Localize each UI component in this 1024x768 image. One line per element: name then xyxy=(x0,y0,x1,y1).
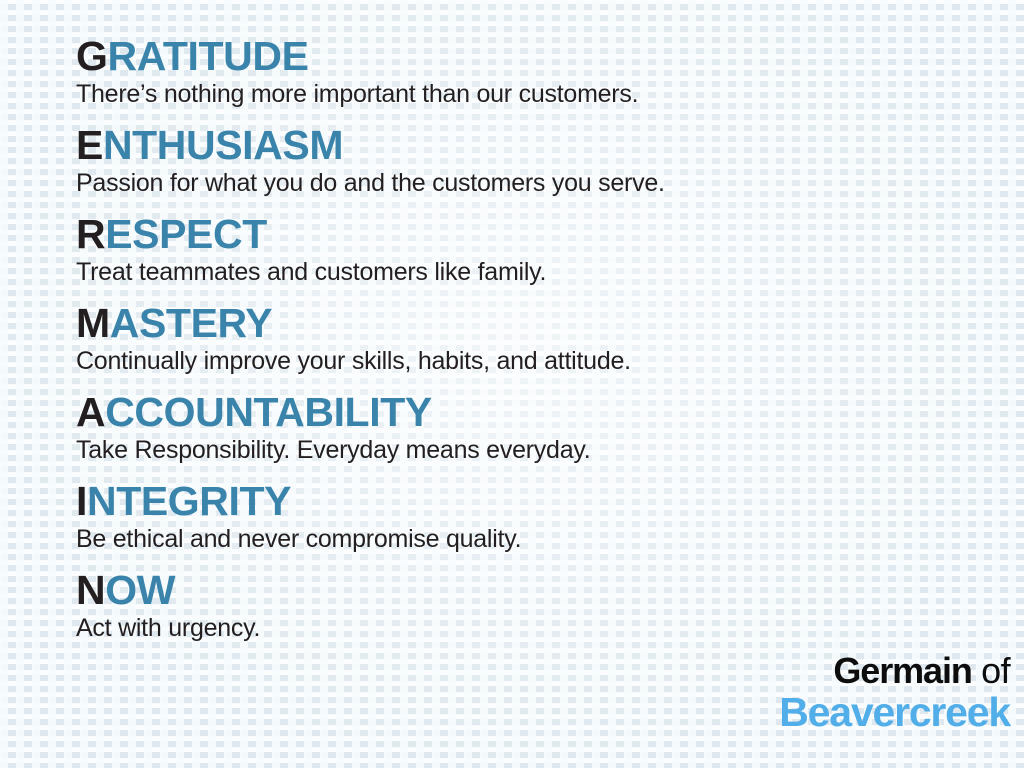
poster-canvas: GRATITUDE There’s nothing more important… xyxy=(0,0,1024,768)
value-heading-remainder: RATITUDE xyxy=(108,33,309,79)
value-description-enthusiasm: Passion for what you do and the customer… xyxy=(76,169,1006,198)
brand-name: Germain xyxy=(833,650,971,691)
value-initial-letter: N xyxy=(76,567,105,613)
value-description-now: Act with urgency. xyxy=(76,614,1006,643)
value-entry-mastery: MASTERY Continually improve your skills,… xyxy=(76,303,1006,376)
value-heading-remainder: NTEGRITY xyxy=(87,478,291,524)
core-values-list: GRATITUDE There’s nothing more important… xyxy=(76,36,1006,643)
value-description-gratitude: There’s nothing more important than our … xyxy=(76,80,1006,109)
value-initial-letter: R xyxy=(76,211,105,257)
value-description-accountability: Take Responsibility. Everyday means ever… xyxy=(76,436,1006,465)
value-heading-now: NOW xyxy=(76,570,1006,611)
value-initial-letter: A xyxy=(76,389,105,435)
value-description-integrity: Be ethical and never compromise quality. xyxy=(76,525,1006,554)
value-heading-accountability: ACCOUNTABILITY xyxy=(76,392,1006,433)
value-heading-respect: RESPECT xyxy=(76,214,1006,255)
value-entry-accountability: ACCOUNTABILITY Take Responsibility. Ever… xyxy=(76,392,1006,465)
value-heading-remainder: ASTERY xyxy=(110,300,272,346)
value-entry-respect: RESPECT Treat teammates and customers li… xyxy=(76,214,1006,287)
value-description-mastery: Continually improve your skills, habits,… xyxy=(76,347,1006,376)
brand-location: Beavercreek xyxy=(779,691,1010,734)
value-heading-mastery: MASTERY xyxy=(76,303,1006,344)
value-initial-letter: E xyxy=(76,122,103,168)
value-initial-letter: I xyxy=(76,478,87,524)
value-initial-letter: G xyxy=(76,33,108,79)
value-heading-remainder: OW xyxy=(105,567,175,613)
brand-logo: Germain of Beavercreek xyxy=(779,652,1010,734)
value-entry-gratitude: GRATITUDE There’s nothing more important… xyxy=(76,36,1006,109)
brand-logo-line-top: Germain of xyxy=(779,652,1010,690)
value-heading-gratitude: GRATITUDE xyxy=(76,36,1006,77)
value-entry-integrity: INTEGRITY Be ethical and never compromis… xyxy=(76,481,1006,554)
value-heading-integrity: INTEGRITY xyxy=(76,481,1006,522)
value-description-respect: Treat teammates and customers like famil… xyxy=(76,258,1006,287)
brand-connector-word: of xyxy=(981,650,1010,691)
value-heading-enthusiasm: ENTHUSIASM xyxy=(76,125,1006,166)
brand-connector xyxy=(972,650,981,691)
value-heading-remainder: CCOUNTABILITY xyxy=(105,389,432,435)
value-entry-enthusiasm: ENTHUSIASM Passion for what you do and t… xyxy=(76,125,1006,198)
value-entry-now: NOW Act with urgency. xyxy=(76,570,1006,643)
value-heading-remainder: ESPECT xyxy=(105,211,267,257)
value-heading-remainder: NTHUSIASM xyxy=(103,122,343,168)
value-initial-letter: M xyxy=(76,300,110,346)
